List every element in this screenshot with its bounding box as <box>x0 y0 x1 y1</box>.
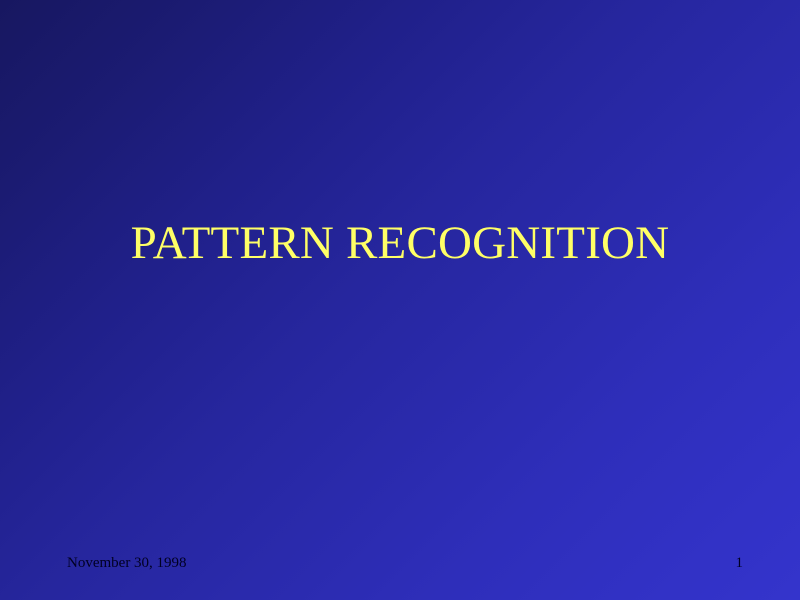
footer-date: November 30, 1998 <box>67 553 187 573</box>
presentation-slide: PATTERN RECOGNITION November 30, 1998 1 <box>0 0 800 600</box>
title-placeholder: PATTERN RECOGNITION <box>60 215 740 271</box>
slide-footer: November 30, 1998 1 <box>0 553 800 579</box>
slide-title: PATTERN RECOGNITION <box>60 215 740 271</box>
footer-page-number: 1 <box>736 553 744 573</box>
